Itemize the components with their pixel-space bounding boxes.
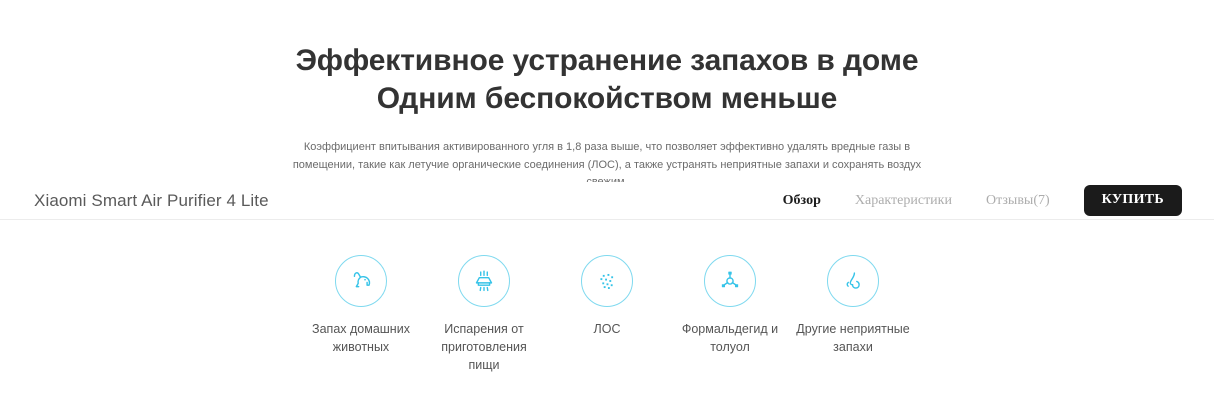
particles-icon (581, 255, 633, 307)
page-title-line-2: Одним беспокойством меньше (0, 80, 1214, 118)
hero-section: Эффективное устранение запахов в доме Од… (0, 0, 1214, 192)
product-name: Xiaomi Smart Air Purifier 4 Lite (34, 191, 269, 211)
tab-specifications[interactable]: Характеристики (855, 193, 952, 209)
page-title: Эффективное устранение запахов в доме Од… (0, 42, 1214, 119)
feature-item-other-odors: Другие неприятные запахи (792, 255, 915, 374)
feature-label: Другие неприятные запахи (794, 321, 912, 357)
product-navbar: Xiaomi Smart Air Purifier 4 Lite Обзор Х… (0, 182, 1214, 220)
feature-label: Запах домашних животных (302, 321, 420, 357)
nose-icon (827, 255, 879, 307)
tab-overview[interactable]: Обзор (783, 193, 821, 209)
feature-item-cooking-fumes: Испарения от приготовления пищи (423, 255, 546, 374)
feature-label: Формальдегид и толуол (671, 321, 789, 357)
buy-button[interactable]: КУПИТЬ (1084, 185, 1182, 216)
feature-item-pet-odor: Запах домашних животных (300, 255, 423, 374)
tab-reviews[interactable]: Отзывы(7) (986, 193, 1050, 209)
feature-label: ЛОС (548, 321, 666, 339)
odor-feature-list: Запах домашних животных Испарения от при… (0, 255, 1214, 374)
feature-item-voc: ЛОС (546, 255, 669, 374)
molecule-icon (704, 255, 756, 307)
feature-item-formaldehyde: Формальдегид и толуол (669, 255, 792, 374)
dog-icon (335, 255, 387, 307)
page-title-line-1: Эффективное устранение запахов в доме (0, 42, 1214, 80)
feature-label: Испарения от приготовления пищи (425, 321, 543, 374)
navbar-actions: Обзор Характеристики Отзывы(7) КУПИТЬ (783, 185, 1182, 216)
range-hood-icon (458, 255, 510, 307)
